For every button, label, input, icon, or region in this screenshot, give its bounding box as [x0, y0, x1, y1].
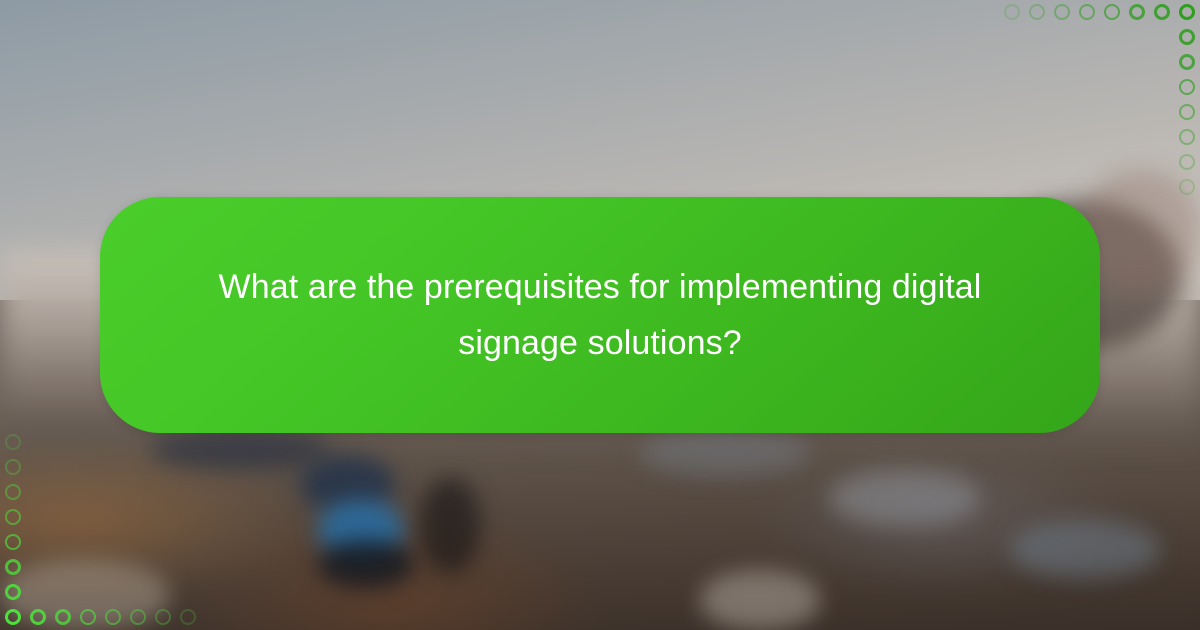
- decorative-dot: [1004, 4, 1020, 20]
- decorative-dot: [1179, 54, 1195, 70]
- decorative-dot: [1104, 4, 1120, 20]
- decorative-dot: [1179, 104, 1195, 120]
- background-blur-blob: [1010, 520, 1160, 578]
- background-blur-blob: [150, 430, 330, 470]
- background-blur-blob: [830, 470, 980, 526]
- question-text: What are the prerequisites for implement…: [205, 259, 995, 371]
- decorative-dot: [5, 609, 21, 625]
- decorative-dot: [5, 434, 21, 450]
- decorative-dot: [1154, 4, 1170, 20]
- decorative-dot: [55, 609, 71, 625]
- decorative-dot: [5, 534, 21, 550]
- decorative-dot: [1179, 29, 1195, 45]
- decorative-dot: [1179, 129, 1195, 145]
- decorative-dot: [1179, 154, 1195, 170]
- decorative-dot: [1054, 4, 1070, 20]
- decorative-dot: [80, 609, 96, 625]
- background-blur-blob: [640, 430, 810, 476]
- decorative-dot: [105, 609, 121, 625]
- decorative-dot: [5, 459, 21, 475]
- background-blur-blob: [420, 478, 480, 574]
- decorative-dot: [1029, 4, 1045, 20]
- question-card: What are the prerequisites for implement…: [100, 197, 1100, 433]
- decorative-dot: [1079, 4, 1095, 20]
- decorative-dot: [1129, 4, 1145, 20]
- background-blur-blob: [318, 540, 414, 588]
- background-blur-blob: [700, 570, 820, 630]
- decorative-dot: [1179, 4, 1195, 20]
- decorative-dot: [1179, 79, 1195, 95]
- slide-canvas: What are the prerequisites for implement…: [0, 0, 1200, 630]
- decorative-dot: [180, 609, 196, 625]
- decorative-dot: [130, 609, 146, 625]
- decorative-dot: [1179, 179, 1195, 195]
- decorative-dot: [5, 509, 21, 525]
- decorative-dot: [155, 609, 171, 625]
- decorative-dot: [5, 484, 21, 500]
- decorative-dot: [5, 559, 21, 575]
- decorative-dot: [5, 584, 21, 600]
- decorative-dot: [30, 609, 46, 625]
